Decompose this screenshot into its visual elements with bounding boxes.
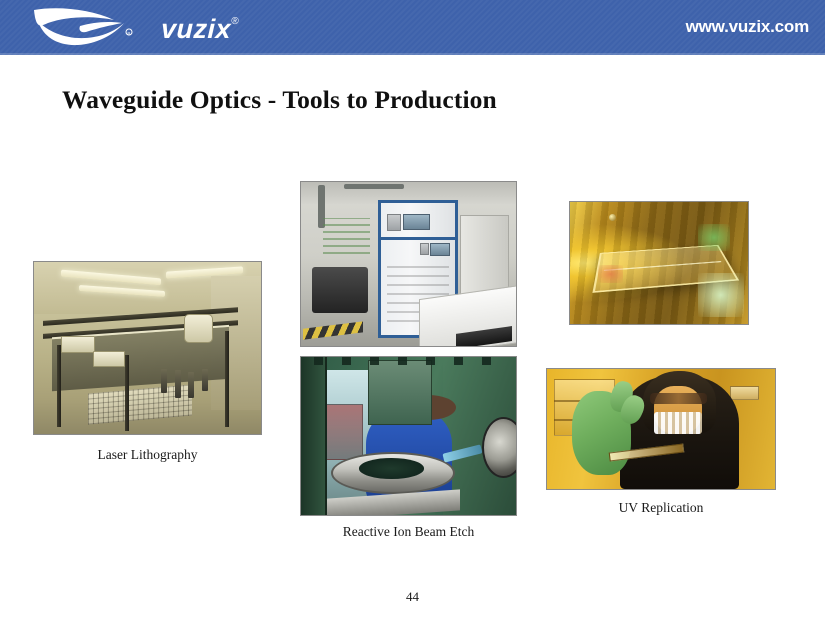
figure-uv-replication [546,368,776,490]
optical-mount [161,369,167,393]
safety-glasses [650,393,707,404]
chamber-hood [368,360,432,425]
control-display [403,214,430,230]
control-display [430,243,450,257]
laser-lithography-image [34,262,261,434]
machine-blue-image [301,182,516,346]
vacuum-flange [482,417,517,478]
pump-unit [312,267,368,313]
rack-module [420,243,429,256]
brand-block: R vuzix® [28,4,288,52]
diffraction-green-tint [698,224,730,251]
registered-trademark-icon: ® [231,16,239,27]
diffraction-red-tint [598,265,623,282]
vuzix-swoosh-logo-icon: R [28,4,153,50]
brand-wordmark: vuzix® [160,14,239,45]
instrument-box [93,351,125,367]
page-number: 44 [0,589,825,605]
optical-mount [175,370,181,398]
header-band: R vuzix® www.vuzix.com [0,0,825,55]
instrument-box [61,336,95,353]
chamber-door [301,357,327,515]
uv-replication-image [547,369,775,489]
optical-mount [188,372,194,398]
figure-machine-blue [300,181,517,347]
cabinet-divider [381,237,455,240]
website-url[interactable]: www.vuzix.com [686,17,809,37]
specular-glow [698,273,744,317]
ion-beam-chamber-image [301,357,516,515]
table-leg [125,355,129,431]
caption-laser-lithography: Laser Lithography [33,447,262,463]
face-mask [654,412,702,434]
table-leg [57,345,61,428]
caption-ion-beam-etch: Reactive Ion Beam Etch [300,524,517,540]
waveguide-plate-image [570,202,748,324]
optical-mount [202,369,208,391]
brand-name-text: vuzix [160,14,231,44]
chamber-bolts [314,357,503,365]
page-title: Waveguide Optics - Tools to Production [62,85,497,115]
table-leg [225,331,229,427]
svg-text:R: R [128,31,131,36]
platen-aperture [359,458,424,479]
wall-tubing [323,218,370,254]
rack-module [387,214,401,232]
caption-uv-replication: UV Replication [546,500,776,516]
instrument-box [184,314,213,344]
pipe [344,184,404,189]
figure-laser-lithography [33,261,262,435]
figure-ion-beam-chamber [300,356,517,516]
wall-switch [730,386,759,400]
figure-waveguide-plate [569,201,749,325]
